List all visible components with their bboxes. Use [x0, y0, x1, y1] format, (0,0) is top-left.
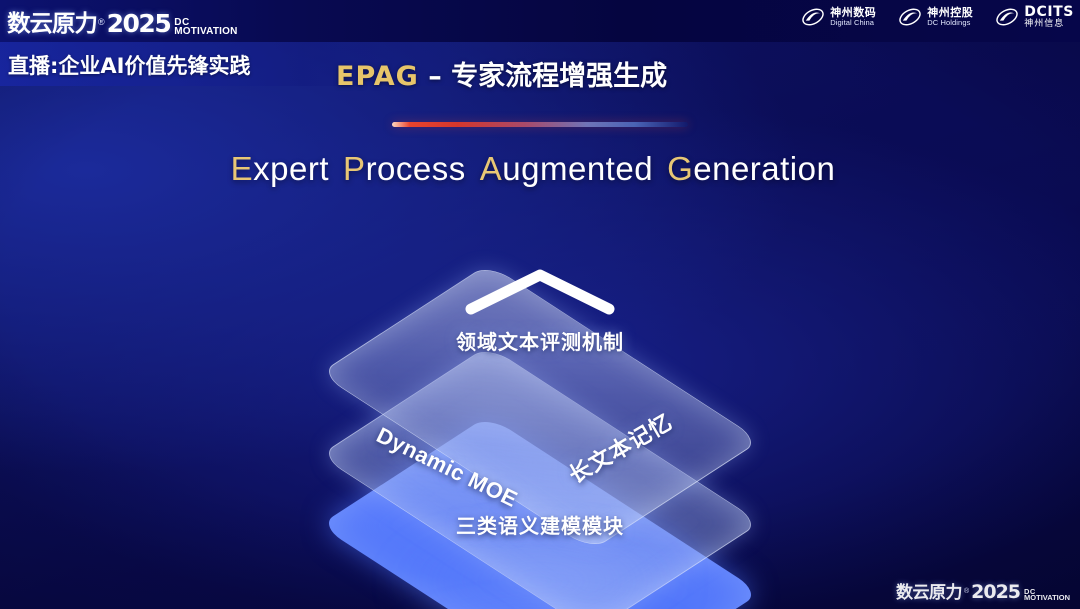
swirl-logo-icon: [995, 5, 1019, 29]
partner-logo-digital-china: 神州数码 Digital China: [801, 5, 876, 29]
partner-logo-text: 神州控股 DC Holdings: [927, 7, 973, 26]
brand-motivation-label: MOTIVATION: [174, 27, 237, 36]
subtitle-initial: P: [343, 150, 366, 187]
brand-name-cn: 数云原力: [7, 4, 97, 38]
live-session-title: 直播:企业AI价值先锋实践: [8, 50, 250, 80]
watermark-name-cn: 数云原力: [896, 578, 962, 603]
watermark-dc-motivation: DC MOTIVATION: [1024, 589, 1070, 603]
brand-dc-motivation: DC MOTIVATION: [174, 18, 237, 36]
registered-mark-icon: ®: [98, 17, 105, 27]
subtitle-initial: A: [480, 150, 503, 187]
layered-stack-diagram: 领域文本评测机制 Dynamic MOE 长文本记忆 三类语义建模模块: [0, 226, 1080, 556]
brand-year: 2025: [107, 9, 171, 38]
subtitle-initial: E: [231, 150, 254, 187]
subtitle-english: ExpertProcessAugmentedGeneration: [0, 150, 1080, 188]
page-title-rest: – 专家流程增强生成: [428, 61, 667, 92]
watermark-motivation-label: MOTIVATION: [1024, 595, 1070, 602]
watermark-logo: 数云原力 ® 2025 DC MOTIVATION: [896, 578, 1070, 603]
subtitle-word-rest: rocess: [366, 150, 466, 187]
title-divider: [392, 122, 688, 127]
subtitle-word-rest: xpert: [253, 150, 329, 187]
partner-name-en: Digital China: [830, 19, 876, 27]
brand-logo: 数云原力 ® 2025 DC MOTIVATION: [8, 4, 238, 38]
chevron-up-icon: [461, 265, 619, 317]
swirl-logo-icon: [898, 5, 922, 29]
partner-logo-group: 神州数码 Digital China 神州控股 DC Holdings: [801, 5, 1074, 29]
partner-logo-dc-holdings: 神州控股 DC Holdings: [898, 5, 973, 29]
partner-logo-text: DCITS 神州信息: [1024, 5, 1074, 29]
partner-logo-text: 神州数码 Digital China: [830, 7, 876, 26]
page-title-accent: EPAG: [336, 61, 419, 92]
partner-name-cn: 神州信息: [1024, 20, 1074, 29]
subtitle-word: Process: [343, 150, 466, 187]
subtitle-word: Augmented: [480, 150, 653, 187]
subtitle-word: Expert: [231, 150, 329, 187]
subtitle-word-rest: eneration: [693, 150, 835, 187]
partner-logo-dcits: DCITS 神州信息: [995, 5, 1074, 29]
stack-layer-top-label: 领域文本评测机制: [0, 326, 1080, 355]
registered-mark-icon: ®: [964, 588, 969, 595]
page-title: EPAG – 专家流程增强生成: [336, 54, 667, 93]
watermark-year: 2025: [971, 581, 1020, 603]
partner-name-en: DCITS: [1024, 5, 1074, 20]
partner-name-en: DC Holdings: [927, 19, 973, 27]
swirl-logo-icon: [801, 5, 825, 29]
subtitle-word: Generation: [667, 150, 835, 187]
slide-canvas: 数云原力 ® 2025 DC MOTIVATION 直播:企业AI价值先锋实践 …: [0, 0, 1080, 609]
stack-layer-bottom-label: 三类语义建模模块: [0, 510, 1080, 539]
subtitle-word-rest: ugmented: [502, 150, 653, 187]
subtitle-initial: G: [667, 150, 693, 187]
